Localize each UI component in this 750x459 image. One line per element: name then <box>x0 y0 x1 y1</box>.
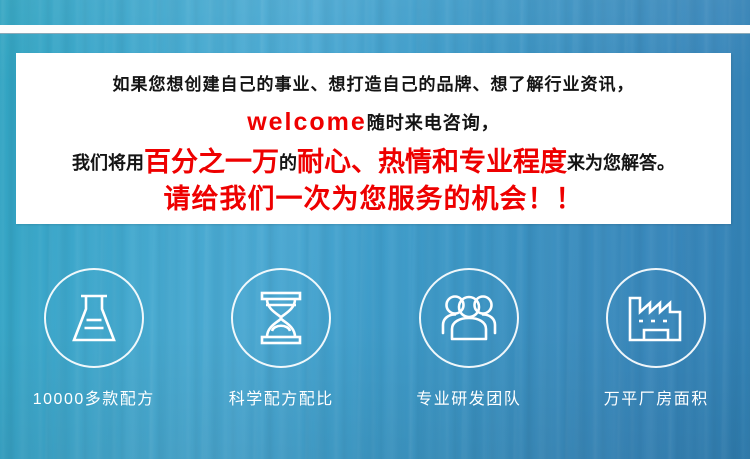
feature-item-factory[interactable]: 万平厂房面积 <box>571 268 741 409</box>
message-line-2: welcome随时来电咨询， <box>16 110 731 135</box>
flask-icon <box>65 290 123 346</box>
feature-label-team: 专业研发团队 <box>384 385 554 409</box>
hourglass-icon-circle <box>231 268 331 368</box>
feature-label-ratio: 科学配方配比 <box>196 385 366 409</box>
message-line-3-part-2: 的 <box>279 153 297 173</box>
factory-icon <box>626 290 686 346</box>
team-icon-circle <box>419 268 519 368</box>
message-line-2-rest: 随时来电咨询， <box>367 113 500 133</box>
welcome-highlight: welcome <box>247 108 367 136</box>
message-line-3-red-2: 耐心、热情和专业程度 <box>297 147 567 177</box>
feature-item-team[interactable]: 专业研发团队 <box>384 268 554 409</box>
promo-banner: 如果您想创建自己的事业、想打造自己的品牌、想了解行业资讯， welcome随时来… <box>0 0 750 459</box>
message-line-3-part-3: 来为您解答。 <box>567 153 675 173</box>
message-line-3: 我们将用百分之一万的耐心、热情和专业程度来为您解答。 <box>16 149 731 176</box>
factory-icon-circle <box>606 268 706 368</box>
feature-label-factory: 万平厂房面积 <box>571 385 741 409</box>
message-line-1: 如果您想创建自己的事业、想打造自己的品牌、想了解行业资讯， <box>16 76 731 93</box>
flask-icon-circle <box>44 268 144 368</box>
team-icon <box>438 291 500 345</box>
message-line-4: 请给我们一次为您服务的机会！！ <box>16 186 731 213</box>
feature-row: 10000多款配方 科学配方配比 <box>0 268 750 409</box>
message-panel: 如果您想创建自己的事业、想打造自己的品牌、想了解行业资讯， welcome随时来… <box>16 53 731 224</box>
message-line-3-red-1: 百分之一万 <box>144 147 279 177</box>
feature-label-formulas: 10000多款配方 <box>9 385 179 409</box>
feature-item-ratio[interactable]: 科学配方配比 <box>196 268 366 409</box>
feature-item-formulas[interactable]: 10000多款配方 <box>9 268 179 409</box>
hourglass-icon <box>252 289 310 347</box>
top-divider-band <box>0 25 750 34</box>
message-line-3-part-1: 我们将用 <box>72 153 144 173</box>
